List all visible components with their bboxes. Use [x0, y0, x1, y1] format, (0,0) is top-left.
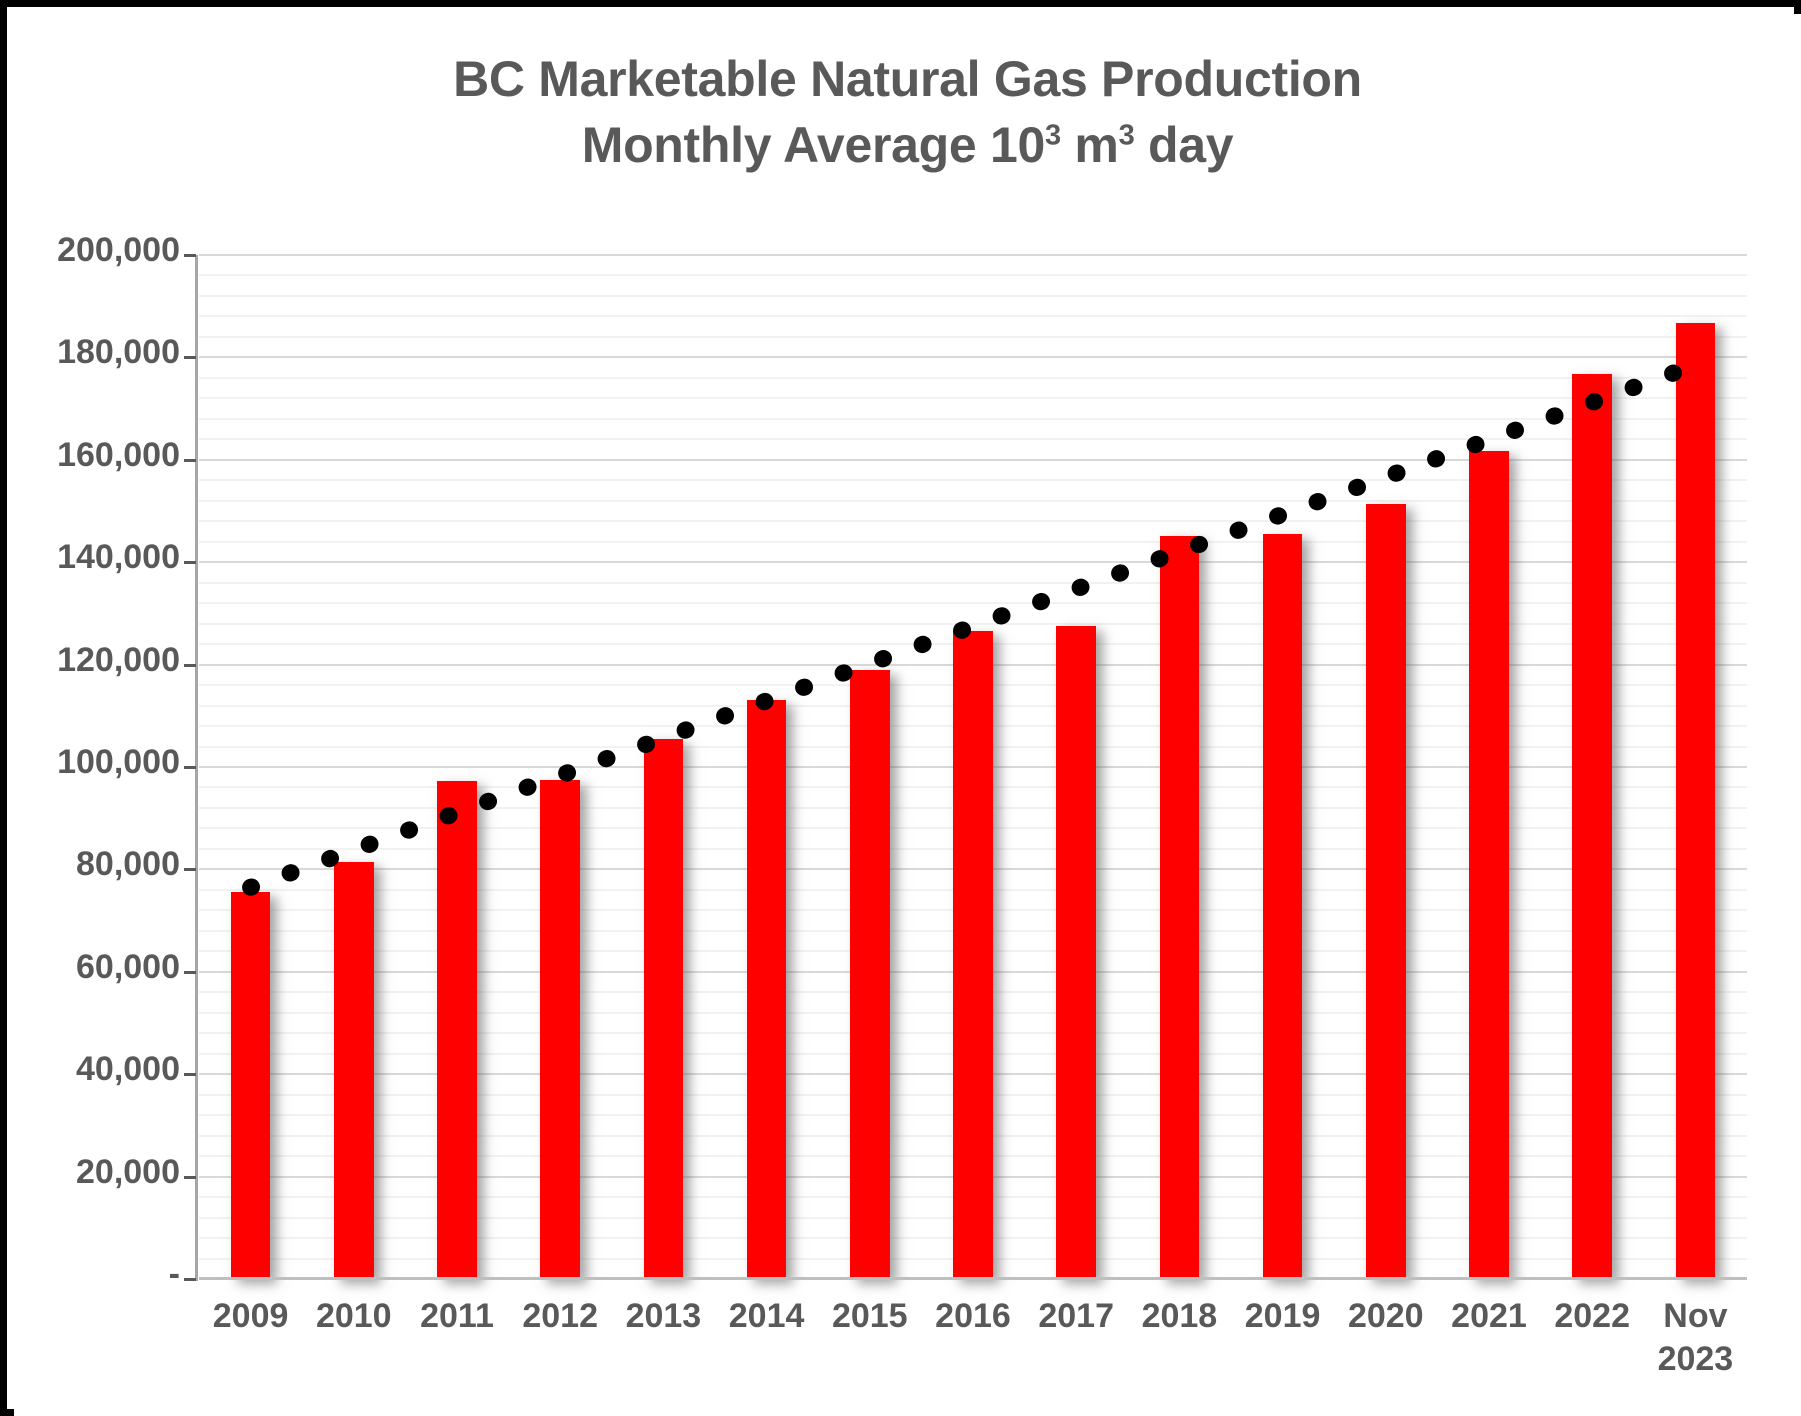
trendline-layer — [199, 255, 1747, 1279]
x-axis-tick-label: 2009 — [199, 1295, 302, 1338]
chart-title-exponent-2: 3 — [1119, 119, 1135, 151]
x-axis-tick-label: Nov2023 — [1644, 1295, 1747, 1380]
x-axis-tick-label-line: 2014 — [715, 1295, 818, 1338]
x-axis-tick-label-line: 2012 — [509, 1295, 612, 1338]
x-axis-tick-label-line: 2010 — [302, 1295, 405, 1338]
x-axis-tick-label-line: 2013 — [612, 1295, 715, 1338]
x-axis-tick-label-line: 2015 — [818, 1295, 921, 1338]
x-axis-tick-label-line: 2020 — [1334, 1295, 1437, 1338]
chart-title-line-2: Monthly Average 103 m3 day — [14, 112, 1801, 178]
y-axis-tick-mark — [184, 254, 196, 257]
chart-title-line-2-prefix: Monthly Average 10 — [582, 117, 1045, 173]
linear-trendline-dotted — [251, 365, 1696, 887]
x-axis-tick-label: 2015 — [818, 1295, 921, 1338]
x-axis-tick-label: 2021 — [1437, 1295, 1540, 1338]
y-axis-tick-label: - — [20, 1255, 180, 1294]
x-axis-tick-label-line: 2011 — [405, 1295, 508, 1338]
y-axis-tick-label: 200,000 — [20, 231, 180, 270]
y-axis-tick-mark — [184, 971, 196, 974]
x-axis-tick-label: 2017 — [1025, 1295, 1128, 1338]
chart-title-line-2-mid: m — [1061, 117, 1119, 173]
y-axis-tick-label: 140,000 — [20, 538, 180, 577]
x-axis-tick-label: 2012 — [509, 1295, 612, 1338]
x-axis-tick-label: 2011 — [405, 1295, 508, 1338]
x-axis-tick-label-line: 2022 — [1541, 1295, 1644, 1338]
x-axis-tick-label: 2013 — [612, 1295, 715, 1338]
y-axis-tick-mark — [184, 664, 196, 667]
x-axis-tick-label: 2018 — [1128, 1295, 1231, 1338]
y-axis-tick-mark — [184, 766, 196, 769]
x-axis-labels: 2009201020112012201320142015201620172018… — [199, 1295, 1747, 1415]
x-axis-tick-label-line: 2023 — [1644, 1338, 1747, 1381]
y-axis-tick-mark — [184, 868, 196, 871]
chart-title-line-2-suffix: day — [1134, 117, 1233, 173]
y-axis-tick-mark — [184, 561, 196, 564]
x-axis-tick-label: 2014 — [715, 1295, 818, 1338]
y-axis-tick-label: 80,000 — [20, 845, 180, 884]
x-axis-tick-label-line: 2021 — [1437, 1295, 1540, 1338]
x-axis-tick-label-line: 2009 — [199, 1295, 302, 1338]
chart-title: BC Marketable Natural Gas Production Mon… — [14, 46, 1801, 178]
chart-outer-frame: BC Marketable Natural Gas Production Mon… — [0, 0, 1801, 1416]
x-axis-tick-label: 2022 — [1541, 1295, 1644, 1338]
x-axis-tick-label-line: 2017 — [1025, 1295, 1128, 1338]
y-axis-labels: 200,000180,000160,000140,000120,000100,0… — [14, 14, 180, 1416]
y-axis-tick-label: 100,000 — [20, 743, 180, 782]
x-axis-tick-label-line: Nov — [1644, 1295, 1747, 1338]
x-axis-tick-label: 2020 — [1334, 1295, 1437, 1338]
y-axis-tick-label: 20,000 — [20, 1153, 180, 1192]
y-axis-tick-mark — [184, 459, 196, 462]
x-axis-tick-label: 2010 — [302, 1295, 405, 1338]
y-axis-tick-mark — [184, 1073, 196, 1076]
x-axis-tick-label: 2019 — [1231, 1295, 1334, 1338]
x-axis-tick-label-line: 2019 — [1231, 1295, 1334, 1338]
chart-title-exponent-1: 3 — [1045, 119, 1061, 151]
chart-title-line-1: BC Marketable Natural Gas Production — [14, 46, 1801, 112]
x-axis-tick-label-line: 2018 — [1128, 1295, 1231, 1338]
x-axis-tick-label: 2016 — [921, 1295, 1024, 1338]
x-axis-baseline — [199, 1277, 1747, 1280]
y-axis-tick-label: 40,000 — [20, 1050, 180, 1089]
plot-area — [199, 255, 1747, 1279]
y-axis-tick-label: 60,000 — [20, 948, 180, 987]
y-axis-tick-label: 180,000 — [20, 333, 180, 372]
y-axis-tick-mark — [184, 1176, 196, 1179]
y-axis-tick-mark — [184, 1278, 196, 1281]
y-axis-tick-label: 120,000 — [20, 641, 180, 680]
chart-canvas: BC Marketable Natural Gas Production Mon… — [14, 14, 1801, 1416]
y-axis-tick-mark — [184, 356, 196, 359]
x-axis-tick-label-line: 2016 — [921, 1295, 1024, 1338]
y-axis-tick-label: 160,000 — [20, 436, 180, 475]
